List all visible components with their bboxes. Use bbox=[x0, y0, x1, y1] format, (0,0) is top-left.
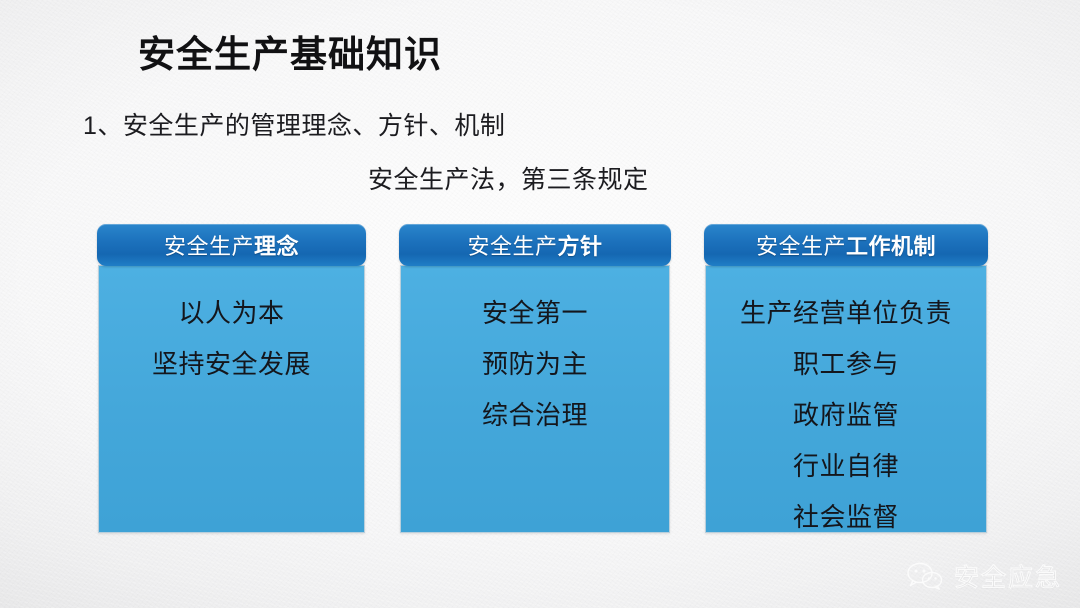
concept-card-3-line: 行业自律 bbox=[706, 441, 986, 492]
wechat-icon bbox=[905, 560, 945, 592]
concept-card-1-body: 以人为本 坚持安全发展 bbox=[99, 288, 364, 390]
concept-card-1-header-text: 安全生产理念 bbox=[164, 229, 299, 261]
concept-card-2-header-text: 安全生产方针 bbox=[467, 229, 602, 261]
concept-card-2: 安全生产方针 安全第一 预防为主 综合治理 bbox=[400, 265, 670, 533]
subtitle-line-2: 安全生产法，第三条规定 bbox=[368, 160, 649, 196]
concept-card-3-line: 职工参与 bbox=[706, 339, 986, 390]
concept-card-3-line: 社会监督 bbox=[706, 492, 986, 543]
concept-card-1: 安全生产理念 以人为本 坚持安全发展 bbox=[98, 265, 365, 533]
concept-card-2-body: 安全第一 预防为主 综合治理 bbox=[401, 288, 669, 441]
concept-card-3-body: 生产经营单位负责 职工参与 政府监管 行业自律 社会监督 bbox=[706, 288, 986, 543]
concept-card-3-line: 生产经营单位负责 bbox=[706, 288, 986, 339]
concept-card-3-header: 安全生产工作机制 bbox=[704, 224, 988, 266]
concept-card-3-line: 政府监管 bbox=[706, 390, 986, 441]
watermark-text: 安全应急 bbox=[954, 558, 1062, 594]
subtitle-line-1: 1、安全生产的管理理念、方针、机制 bbox=[83, 106, 505, 142]
concept-card-3-header-text: 安全生产工作机制 bbox=[756, 229, 936, 261]
concept-card-1-line: 坚持安全发展 bbox=[99, 339, 364, 390]
slide-canvas: 安全生产基础知识 1、安全生产的管理理念、方针、机制 安全生产法，第三条规定 安… bbox=[0, 0, 1080, 608]
concept-card-1-line: 以人为本 bbox=[99, 288, 364, 339]
concept-card-2-header: 安全生产方针 bbox=[399, 224, 671, 266]
watermark: 安全应急 bbox=[905, 558, 1062, 594]
page-title: 安全生产基础知识 bbox=[138, 24, 442, 78]
concept-card-2-line: 预防为主 bbox=[401, 339, 669, 390]
concept-card-2-line: 综合治理 bbox=[401, 390, 669, 441]
concept-card-3: 安全生产工作机制 生产经营单位负责 职工参与 政府监管 行业自律 社会监督 bbox=[705, 265, 987, 533]
concept-card-2-line: 安全第一 bbox=[401, 288, 669, 339]
concept-card-1-header: 安全生产理念 bbox=[97, 224, 366, 266]
